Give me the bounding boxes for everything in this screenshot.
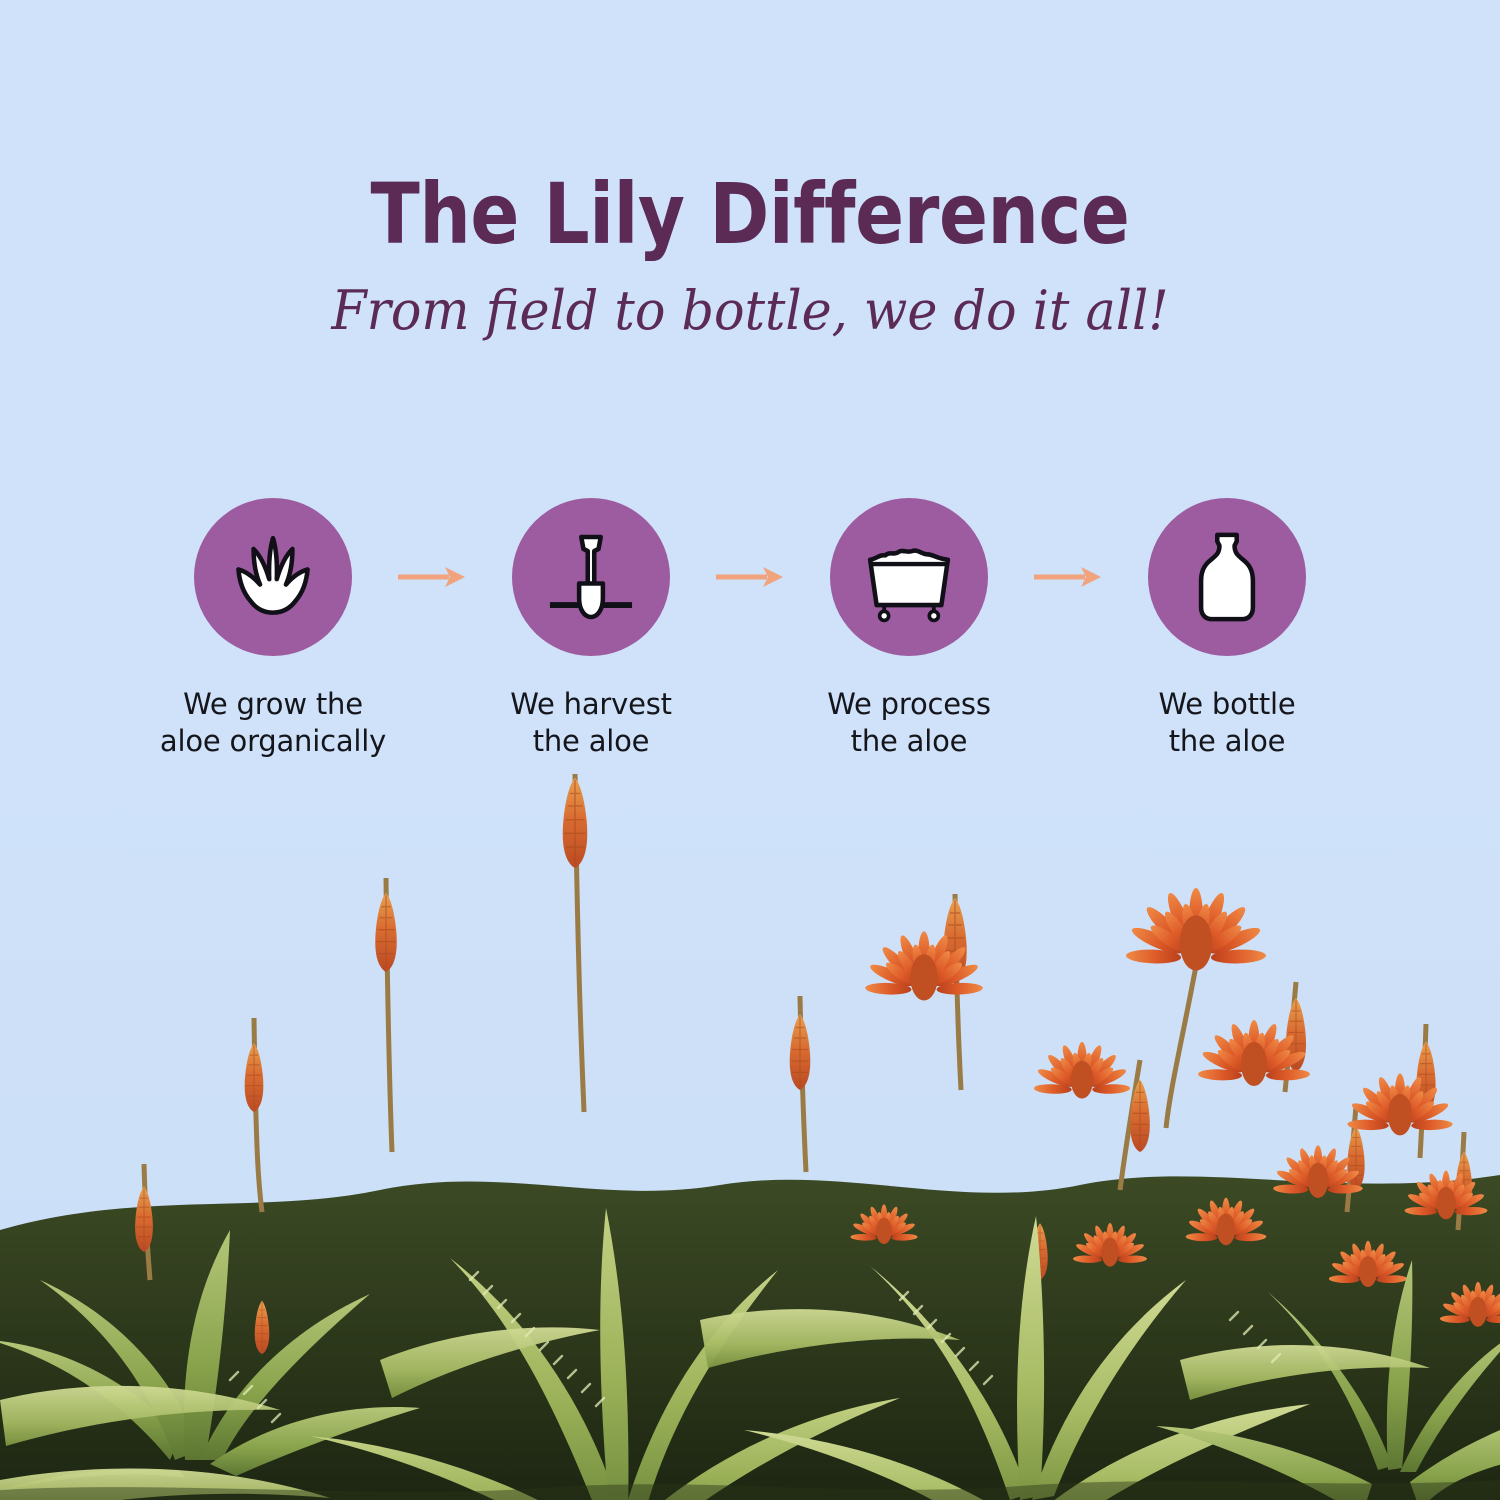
process-step-label: We harvest the aloe — [510, 686, 672, 760]
process-step-label: We process the aloe — [827, 686, 990, 760]
process-arrow-1 — [389, 498, 475, 656]
process-arrow-2 — [707, 498, 793, 656]
process-step-harvest: We harvest the aloe — [475, 498, 707, 760]
process-steps: We grow the aloe organically We harvest … — [0, 498, 1500, 760]
infographic-canvas: The Lily Difference From field to bottle… — [0, 0, 1500, 1500]
icon-circle-process — [830, 498, 988, 656]
process-step-label: We grow the aloe organically — [160, 686, 386, 760]
aloe-plants-illustration — [0, 760, 1500, 1500]
arrow-right-icon — [715, 564, 785, 590]
process-step-label: We bottle the aloe — [1158, 686, 1295, 760]
page-title: The Lily Difference — [105, 172, 1395, 256]
header: The Lily Difference From field to bottle… — [0, 0, 1500, 338]
icon-circle-harvest — [512, 498, 670, 656]
page-subtitle: From field to bottle, we do it all! — [45, 284, 1455, 338]
shovel-icon — [537, 523, 645, 631]
arrow-right-icon — [1033, 564, 1103, 590]
process-arrow-3 — [1025, 498, 1111, 656]
process-step-bottle: We bottle the aloe — [1111, 498, 1343, 760]
bottle-icon — [1173, 523, 1281, 631]
icon-circle-bottle — [1148, 498, 1306, 656]
arrow-right-icon — [397, 564, 467, 590]
icon-circle-grow — [194, 498, 352, 656]
aloe-field-photograph — [0, 760, 1500, 1500]
processing-cart-icon — [855, 523, 963, 631]
process-step-grow: We grow the aloe organically — [157, 498, 389, 760]
aloe-plant-icon — [219, 523, 327, 631]
process-step-process: We process the aloe — [793, 498, 1025, 760]
